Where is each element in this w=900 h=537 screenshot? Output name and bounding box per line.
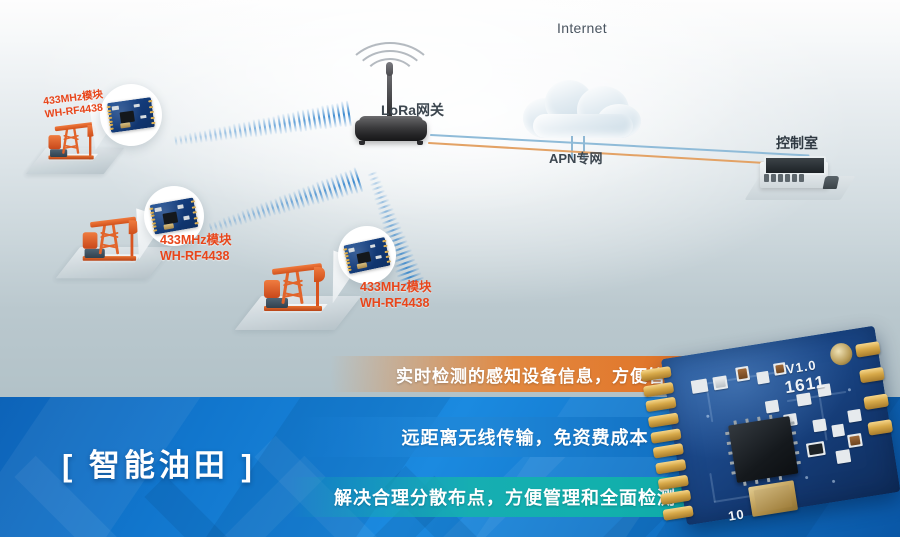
rf-chip: [728, 416, 798, 483]
cloud-label: Internet: [523, 20, 641, 36]
node-label-3: 433MHz模块 WH-RF4438: [360, 279, 432, 311]
apn-label: APN专网: [549, 148, 602, 167]
feature-text-3: 解决合理分散布点，方便管理和全面检测: [334, 484, 676, 510]
node-label-2: 433MHz模块 WH-RF4438: [160, 232, 232, 264]
node-title-3: 433MHz模块: [360, 279, 432, 295]
module-thumb-2: [150, 197, 199, 234]
internet-cloud-icon: [523, 78, 641, 140]
banner-title: [ 智能油田 ]: [62, 440, 256, 485]
gateway-label: LoRa网关: [381, 100, 444, 120]
control-room-icon: [752, 156, 848, 200]
feature-text-2: 远距离无线传输，免资费成本: [402, 424, 649, 450]
control-room-label: 控制室: [776, 133, 818, 153]
rf-module-product-image: V1.0 1611 10: [638, 317, 900, 537]
node-model-3: WH-RF4438: [360, 295, 432, 311]
pcb-mounting-pad: [829, 342, 854, 367]
crystal-oscillator: [748, 480, 798, 517]
module-thumb-1: [107, 97, 155, 133]
silkscreen-pin-number: 10: [727, 506, 746, 523]
module-thumb-3: [343, 236, 390, 273]
infographic-stage: LoRa网关 Internet APN专网 控制室: [0, 0, 900, 537]
node-title-2: 433MHz模块: [160, 232, 232, 248]
node-model-2: WH-RF4438: [160, 248, 232, 264]
feature-band-3: 解决合理分散布点，方便管理和全面检测: [290, 477, 720, 517]
